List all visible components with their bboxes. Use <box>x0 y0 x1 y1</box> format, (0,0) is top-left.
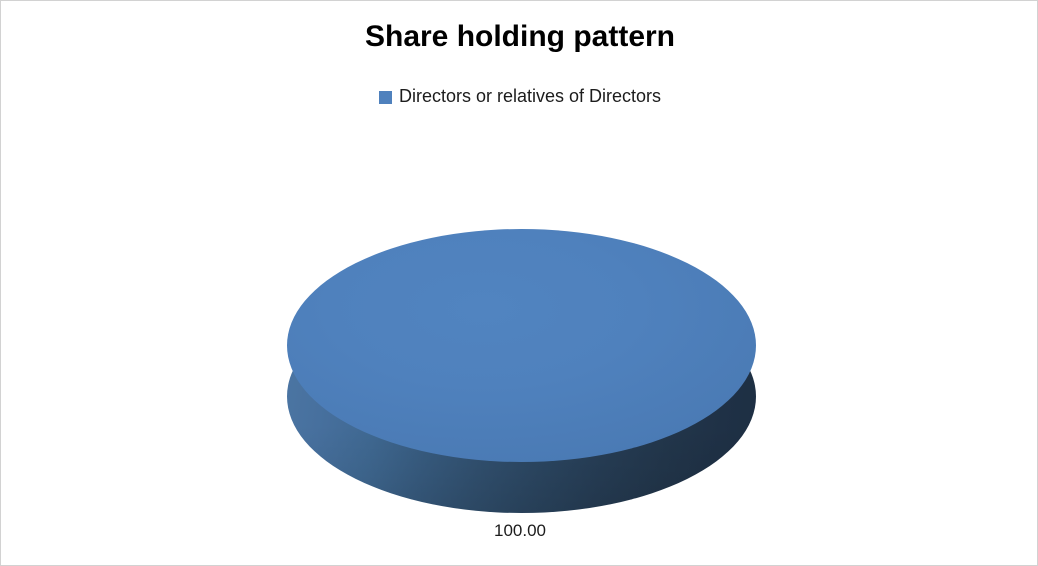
legend-color-swatch-icon <box>379 91 392 104</box>
legend-item-label: Directors or relatives of Directors <box>399 85 661 107</box>
chart-frame: Share holding pattern Directors or relat… <box>0 0 1038 566</box>
chart-title: Share holding pattern <box>1 19 1038 55</box>
pie-slice-top-directors-or-relatives[interactable] <box>287 229 756 462</box>
pie-chart-3d <box>287 229 756 513</box>
chart-legend: Directors or relatives of Directors <box>1 85 1038 107</box>
pie-slice-data-label: 100.00 <box>1 520 1038 541</box>
